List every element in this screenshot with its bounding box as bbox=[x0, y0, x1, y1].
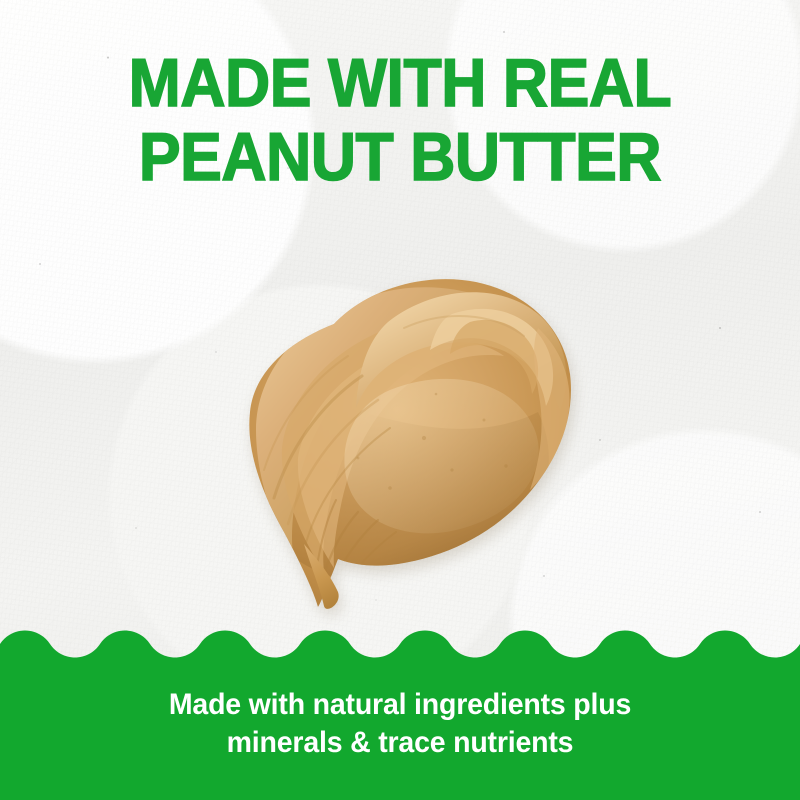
headline: MADE WITH REAL PEANUT BUTTER bbox=[0, 46, 800, 194]
footer-line-1: Made with natural ingredients plus bbox=[20, 686, 780, 724]
footer-tagline: Made with natural ingredients plus miner… bbox=[0, 686, 800, 762]
peanut-butter-image bbox=[238, 262, 588, 617]
headline-line-1: MADE WITH REAL bbox=[32, 46, 768, 120]
headline-line-2: PEANUT BUTTER bbox=[32, 120, 768, 194]
scalloped-wave-edge-icon bbox=[0, 628, 800, 662]
footer-line-2: minerals & trace nutrients bbox=[20, 724, 780, 762]
footer-banner: Made with natural ingredients plus miner… bbox=[0, 628, 800, 800]
peanut-butter-dollop-icon bbox=[238, 262, 588, 617]
promo-card: MADE WITH REAL PEANUT BUTTER bbox=[0, 0, 800, 800]
